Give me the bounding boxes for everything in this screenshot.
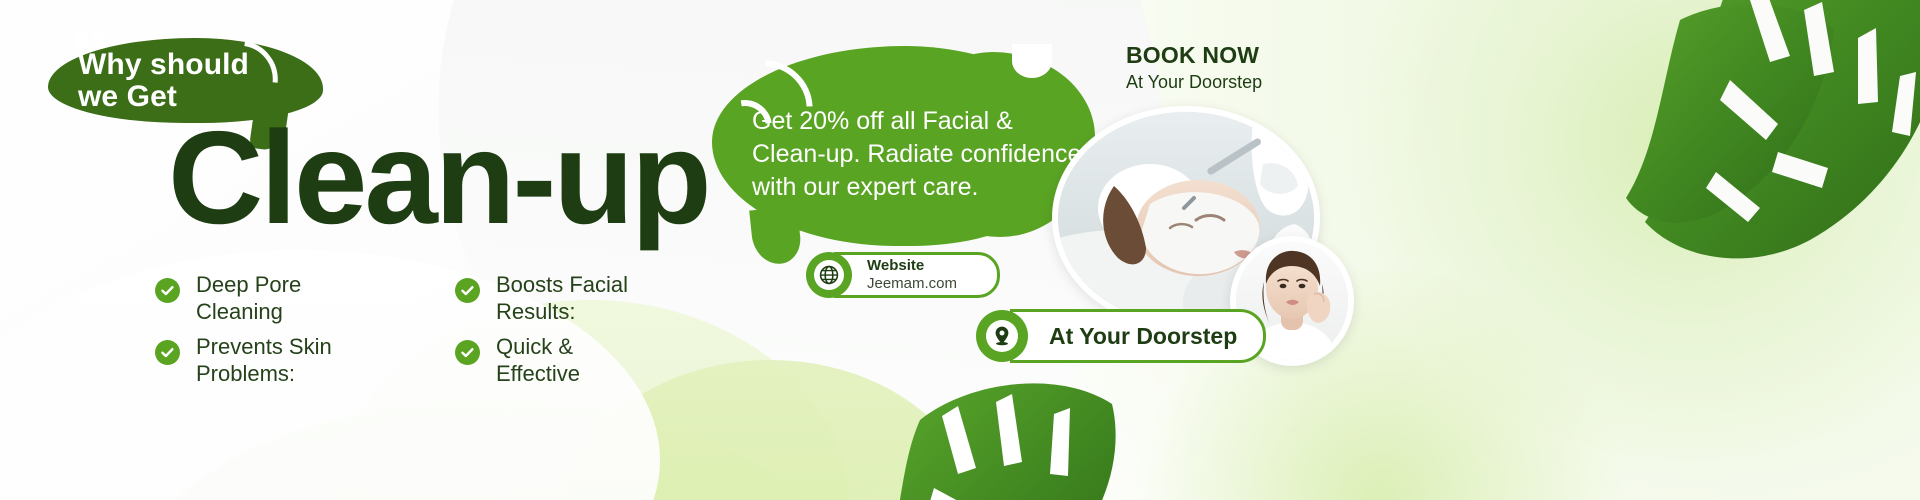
left-content: Why shouldwe Get Clean-up Deep PoreClean…	[0, 0, 820, 500]
benefit-item: Boosts FacialResults:	[455, 268, 755, 330]
benefit-item: Prevents SkinProblems:	[155, 330, 455, 392]
benefit-label: Quick &Effective	[496, 330, 580, 388]
check-circle-icon	[155, 340, 180, 365]
benefit-label: Deep PoreCleaning	[196, 268, 301, 326]
benefit-item: Quick &Effective	[455, 330, 755, 392]
benefit-label: Prevents SkinProblems:	[196, 330, 332, 388]
book-now-block: BOOK NOW At Your Doorstep	[1126, 42, 1262, 93]
website-pill[interactable]: Website Jeemam.com	[806, 252, 1000, 298]
website-value: Jeemam.com	[867, 275, 957, 292]
check-circle-icon	[455, 278, 480, 303]
monstera-leaf-icon	[880, 360, 1140, 500]
monstera-leaf-icon	[1430, 0, 1920, 290]
doorstep-pill-body: At Your Doorstep	[1010, 309, 1266, 363]
sparkle-dots-icon	[74, 30, 112, 52]
book-now-subtitle: At Your Doorstep	[1126, 72, 1262, 93]
doorstep-pill[interactable]: At Your Doorstep	[976, 309, 1266, 363]
check-circle-icon	[155, 278, 180, 303]
website-label: Website	[867, 258, 957, 275]
page-title: Clean-up	[168, 112, 709, 244]
check-circle-icon	[455, 340, 480, 365]
benefit-item: Deep PoreCleaning	[155, 268, 455, 330]
location-pin-icon	[976, 310, 1028, 362]
benefit-label: Boosts FacialResults:	[496, 268, 628, 326]
promo-banner: Why shouldwe Get Clean-up Deep PoreClean…	[0, 0, 1920, 500]
benefits-list: Deep PoreCleaning Boosts FacialResults: …	[155, 268, 815, 392]
website-pill-body: Website Jeemam.com	[834, 252, 1000, 298]
doorstep-label: At Your Doorstep	[1049, 323, 1237, 350]
offer-bubble-notch	[1012, 44, 1052, 78]
globe-icon	[806, 252, 852, 298]
book-now-title: BOOK NOW	[1126, 42, 1262, 69]
